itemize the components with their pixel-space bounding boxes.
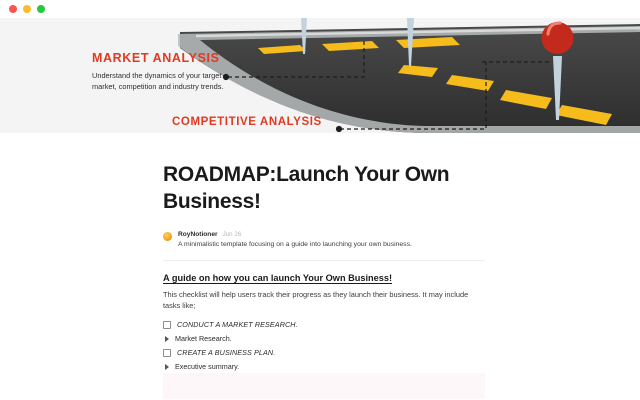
checkbox-icon[interactable]: [163, 321, 171, 329]
hero-heading-competitive-analysis: COMPETITIVE ANALYSIS: [172, 116, 322, 128]
toggle-item-label: Market Research.: [175, 334, 232, 343]
page-title: ROADMAP:Launch Your Own Business!: [163, 162, 485, 216]
close-window-button[interactable]: [9, 5, 17, 13]
document-body: ROADMAP:Launch Your Own Business! RoyNot…: [0, 133, 640, 400]
byline: RoyNotioner Jun 26 A minimalistic templa…: [163, 231, 485, 248]
checklist-item-label: CONDUCT A MARKET RESEARCH.: [177, 320, 298, 329]
byline-text: RoyNotioner Jun 26 A minimalistic templa…: [178, 231, 412, 248]
chevron-right-icon[interactable]: [165, 336, 169, 342]
checklist-item[interactable]: CREATE A BUSINESS PLAN.: [163, 347, 485, 359]
toggle-item-label: Executive summary.: [175, 362, 239, 371]
document-content: ROADMAP:Launch Your Own Business! RoyNot…: [163, 162, 485, 375]
content-divider: [163, 260, 485, 261]
checklist-item[interactable]: CONDUCT A MARKET RESEARCH.: [163, 319, 485, 331]
post-date: Jun 26: [223, 231, 242, 238]
minimize-window-button[interactable]: [23, 5, 31, 13]
checkbox-icon[interactable]: [163, 349, 171, 357]
hero-banner: MARKET ANALYSIS Understand the dynamics …: [0, 18, 640, 133]
section-body-text: This checklist will help users track the…: [163, 289, 473, 312]
hero-block-competitive-analysis: COMPETITIVE ANALYSIS Introduce the compe…: [172, 116, 322, 133]
page-summary: A minimalistic template focusing on a gu…: [178, 241, 412, 248]
byline-meta: RoyNotioner Jun 26: [178, 231, 412, 238]
toggle-item[interactable]: Executive summary.: [163, 361, 485, 373]
window-titlebar: [0, 0, 640, 18]
hero-heading-market-analysis: MARKET ANALYSIS: [92, 51, 223, 65]
checklist: CONDUCT A MARKET RESEARCH. Market Resear…: [163, 319, 485, 373]
toggle-item[interactable]: Market Research.: [163, 333, 485, 345]
section-heading: A guide on how you can launch Your Own B…: [163, 273, 485, 283]
highlight-block: [163, 373, 485, 399]
hero-block-market-analysis: MARKET ANALYSIS Understand the dynamics …: [92, 51, 223, 92]
app-window: MARKET ANALYSIS Understand the dynamics …: [0, 0, 640, 400]
checklist-item-label: CREATE A BUSINESS PLAN.: [177, 348, 275, 357]
author-name[interactable]: RoyNotioner: [178, 231, 218, 238]
avatar: [163, 232, 172, 241]
chevron-right-icon[interactable]: [165, 364, 169, 370]
hero-description-market-analysis: Understand the dynamics of your target m…: [92, 71, 223, 92]
maximize-window-button[interactable]: [37, 5, 45, 13]
